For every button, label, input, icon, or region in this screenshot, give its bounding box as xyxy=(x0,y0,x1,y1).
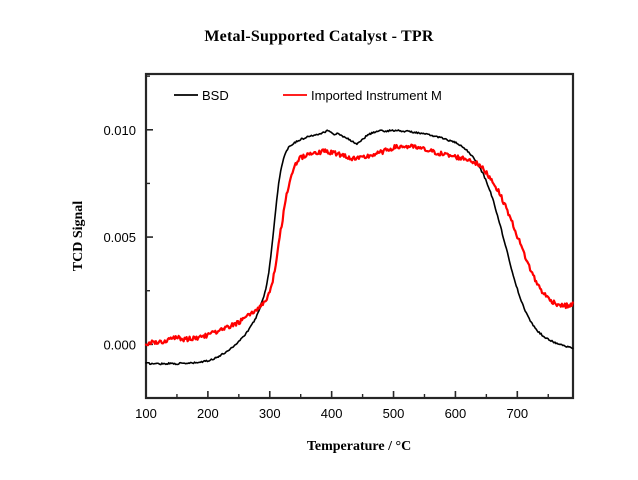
y-tick-label: 0.000 xyxy=(103,337,136,352)
x-tick-label: 700 xyxy=(506,406,528,421)
plot-frame xyxy=(146,74,573,398)
y-tick-label: 0.005 xyxy=(103,230,136,245)
x-tick-label: 500 xyxy=(383,406,405,421)
x-tick-label: 300 xyxy=(259,406,281,421)
chart-legend: BSDImported Instrument M xyxy=(174,88,442,103)
series-line-bsd xyxy=(146,130,573,365)
x-tick-label: 100 xyxy=(135,406,157,421)
x-axis-tick-labels: 100200300400500600700 xyxy=(135,406,528,421)
legend-label-0: BSD xyxy=(202,88,229,103)
y-tick-label: 0.010 xyxy=(103,123,136,138)
x-tick-label: 200 xyxy=(197,406,219,421)
legend-label-1: Imported Instrument M xyxy=(311,88,442,103)
x-tick-label: 400 xyxy=(321,406,343,421)
chart-page: Metal-Supported Catalyst - TPR 100200300… xyxy=(0,0,638,480)
x-tick-label: 600 xyxy=(445,406,467,421)
x-axis-title: Temperature / °C xyxy=(307,439,411,454)
data-series-group xyxy=(146,130,573,365)
tpr-line-chart: 100200300400500600700 0.0000.0050.010 BS… xyxy=(0,0,638,480)
series-line-imported-instrument-m xyxy=(146,145,573,346)
y-axis-title: TCD Signal xyxy=(71,201,86,272)
y-axis-tick-labels: 0.0000.0050.010 xyxy=(103,123,136,353)
